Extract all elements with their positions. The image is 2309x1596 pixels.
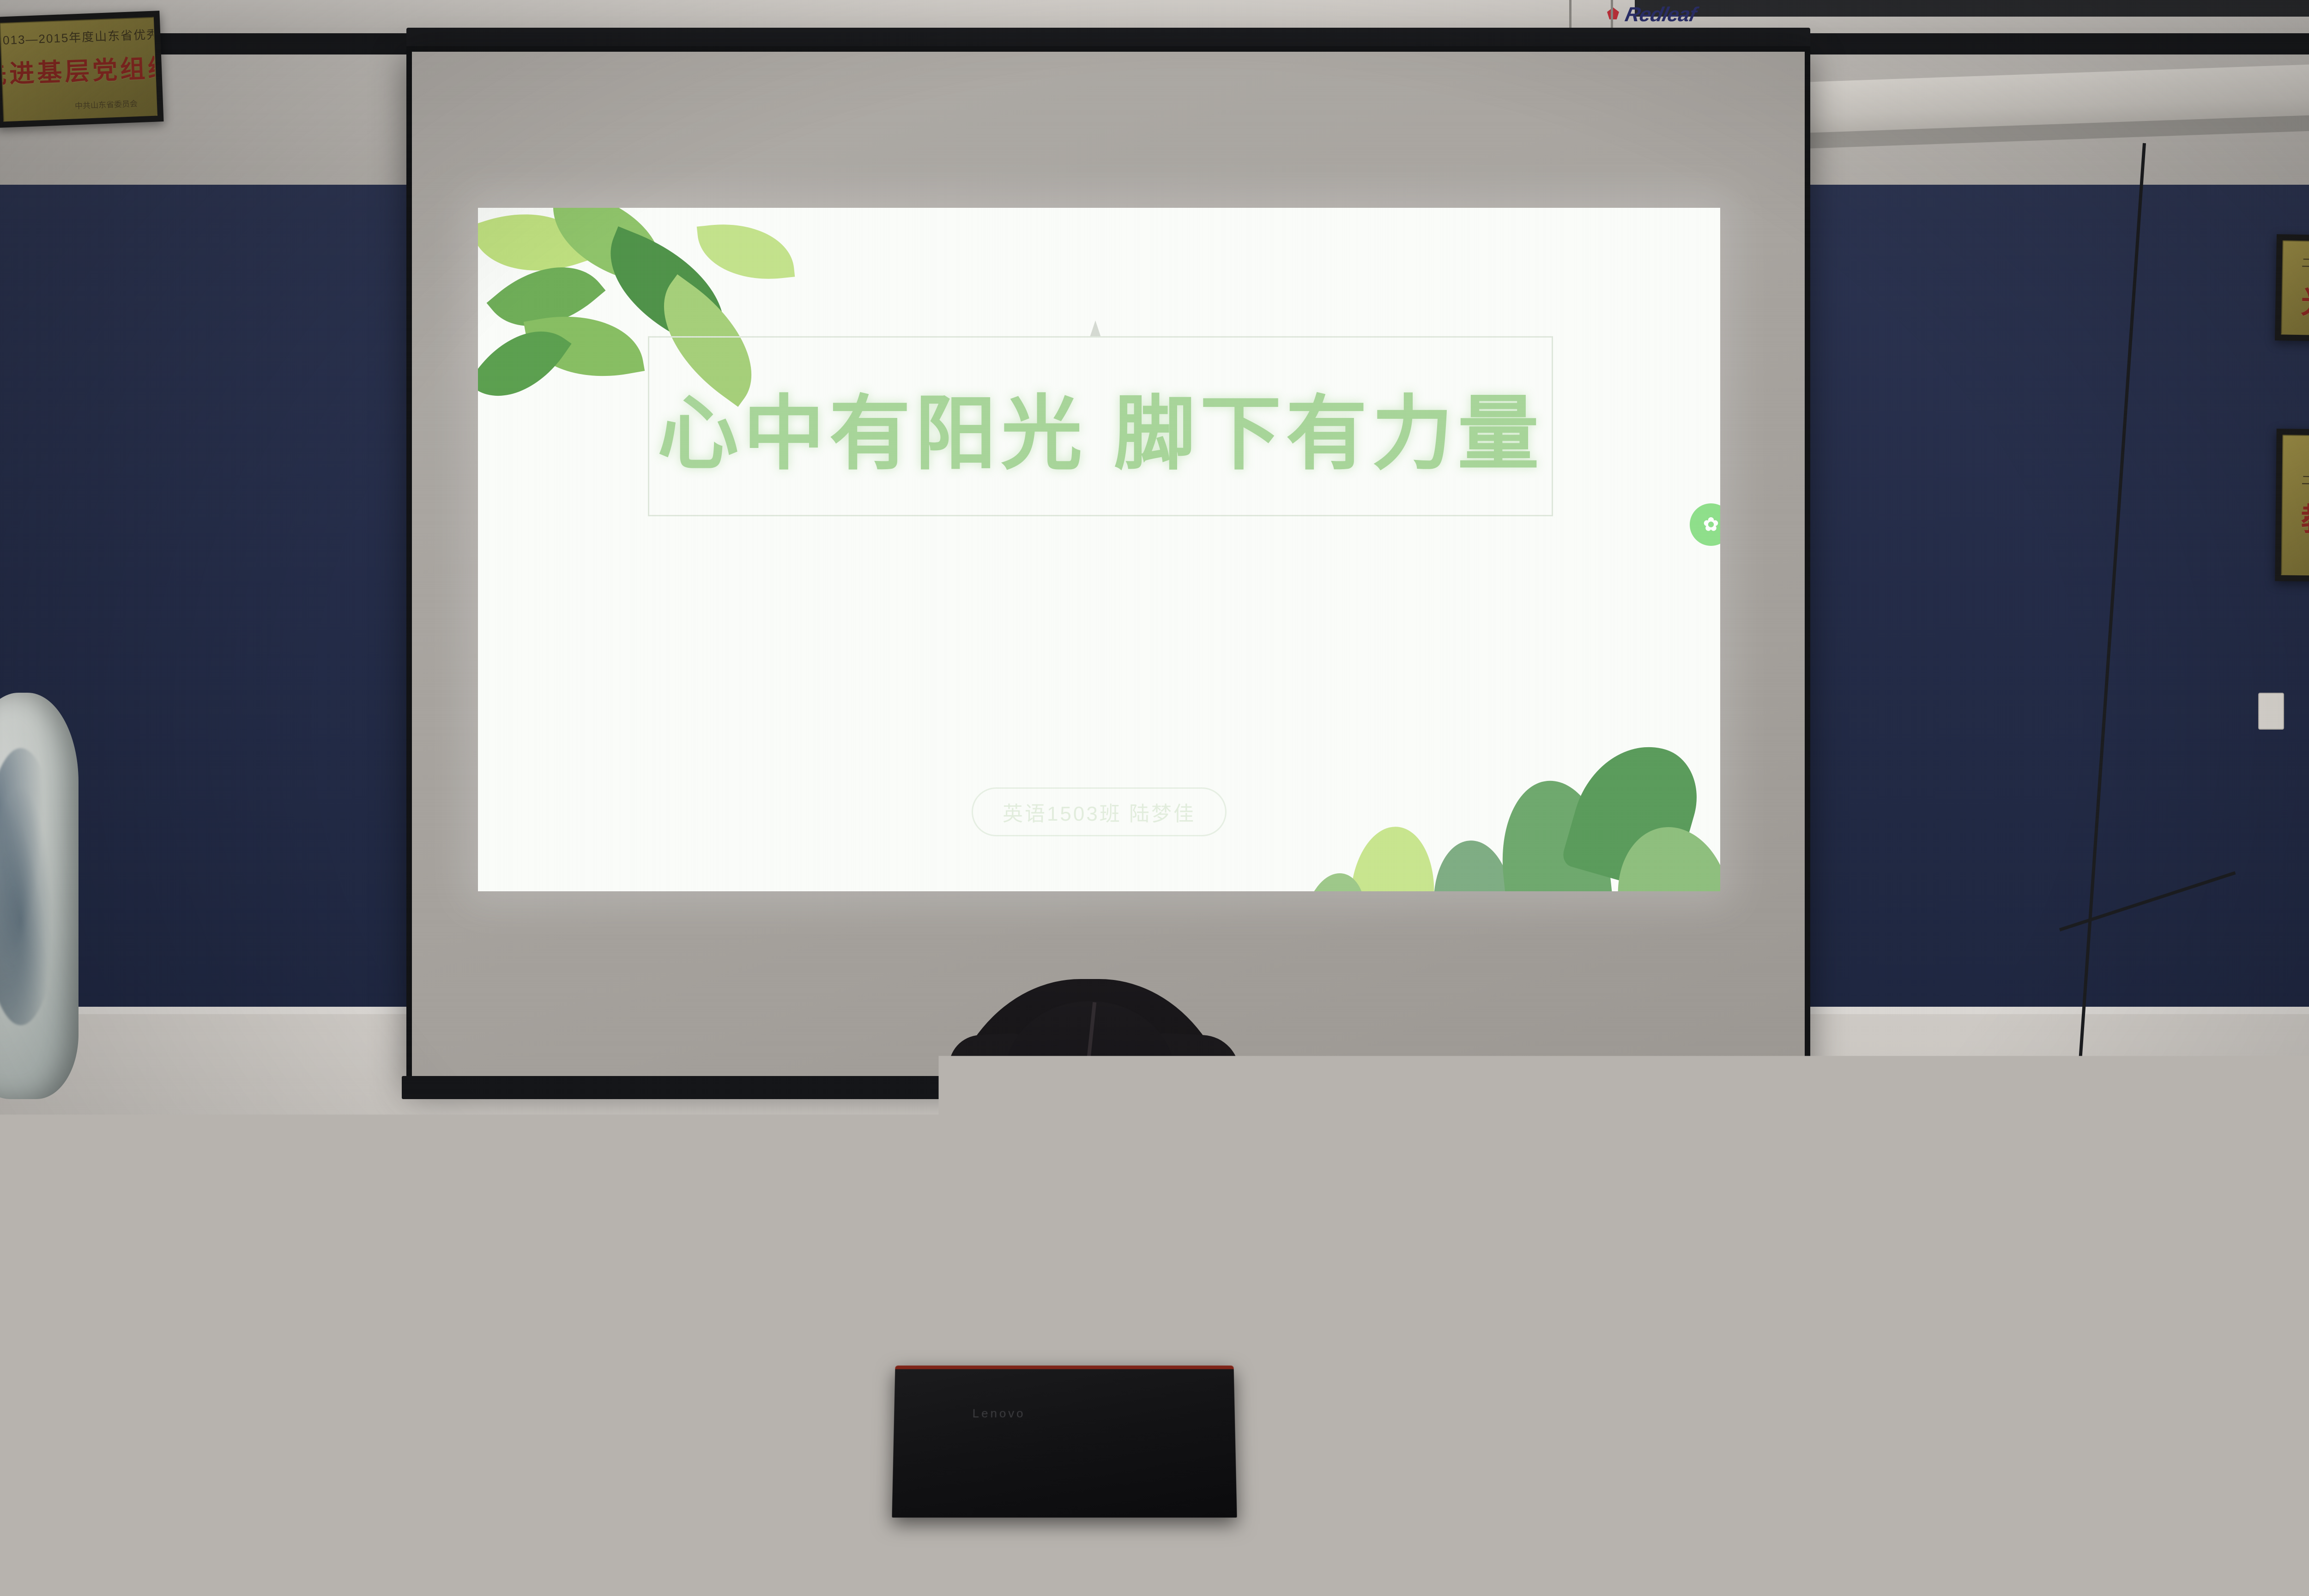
bottle-cap xyxy=(722,1395,751,1416)
wall-outlet[interactable] xyxy=(2258,693,2284,730)
bottle-cap xyxy=(247,1469,275,1490)
audience-left-yellow-scarf xyxy=(124,1487,208,1575)
glasses-bridge xyxy=(1072,1113,1086,1115)
plaque-issuer: 中共山东省委员会 xyxy=(74,97,138,111)
bottle-body xyxy=(235,1517,287,1596)
wall-plaque-right-lower: 二〇一〇年 教学先进 xyxy=(2275,429,2309,582)
audience-right xyxy=(2032,1104,2309,1596)
ceiling-black-bar-right xyxy=(1635,0,2309,17)
wall-plaque-right-upper: 二〇〇九年 光荣 xyxy=(2275,234,2309,343)
projected-slide: ✿ 心中有阳光 脚下有力量 英语1503班 陆梦佳 xyxy=(478,208,1720,891)
plaque-title: 教学先进 xyxy=(2301,494,2309,541)
presenter-finger xyxy=(1255,1192,1276,1248)
wall-plaque-left: 2013—2015年度山东省优秀 先进基层党组织 中共山东省委员会 xyxy=(0,11,163,128)
plaque-date: 二〇〇九年 xyxy=(2302,254,2309,272)
laptop-base xyxy=(880,1509,1249,1525)
plaque-title: 先进基层党组织 xyxy=(0,47,157,91)
laptop-brand-text: Lenovo xyxy=(973,1407,1026,1421)
presenter-nose xyxy=(1078,1127,1094,1154)
smartphone-screen xyxy=(1853,1549,1980,1596)
bottle-cap xyxy=(662,1365,691,1386)
water-bottle xyxy=(226,1469,296,1596)
redleaf-brand-text: Redleaf xyxy=(1623,5,1698,25)
smartphone[interactable] xyxy=(1846,1543,1987,1596)
plaque-date: 二〇一〇年 xyxy=(2301,471,2309,489)
water-bottle xyxy=(707,1395,767,1596)
microphone-head xyxy=(1289,1441,1334,1469)
presenter-eye-right xyxy=(1100,1112,1120,1120)
audience-left-glasses-lens xyxy=(233,1242,279,1278)
presenter-inner-shirt xyxy=(1044,1242,1131,1358)
bottle-neck xyxy=(248,1488,273,1520)
table-front-rim xyxy=(776,1560,1455,1596)
bottle-neck xyxy=(664,1384,689,1416)
audience-right-shirt-pocket xyxy=(2295,1427,2309,1487)
laptop[interactable]: Lenovo xyxy=(892,1366,1237,1517)
slide-badge: ✿ xyxy=(1690,503,1720,546)
slide-subtitle: 英语1503班 陆梦佳 xyxy=(972,787,1227,836)
slide-leaves-bottom-right xyxy=(1295,688,1720,891)
bottle-label xyxy=(650,1474,703,1559)
slide-title: 心中有阳光 脚下有力量 xyxy=(658,368,1544,485)
slide-caret-marker xyxy=(1090,320,1101,337)
bottle-label xyxy=(710,1504,763,1589)
bottle-neck xyxy=(724,1414,749,1446)
presenter-teeth xyxy=(1075,1163,1106,1171)
photo-scene: Redleaf 2013—2015年度山东省优秀 先进基层党组织 中共山东省委员… xyxy=(0,0,2309,1596)
presenter-eye-left xyxy=(1038,1112,1058,1121)
slide-title-box: 心中有阳光 脚下有力量 xyxy=(648,336,1553,516)
plaque-title: 光荣 xyxy=(2301,276,2309,323)
water-bottle xyxy=(647,1365,707,1596)
plaque-date: 2013—2015年度山东省优秀 xyxy=(0,25,157,48)
